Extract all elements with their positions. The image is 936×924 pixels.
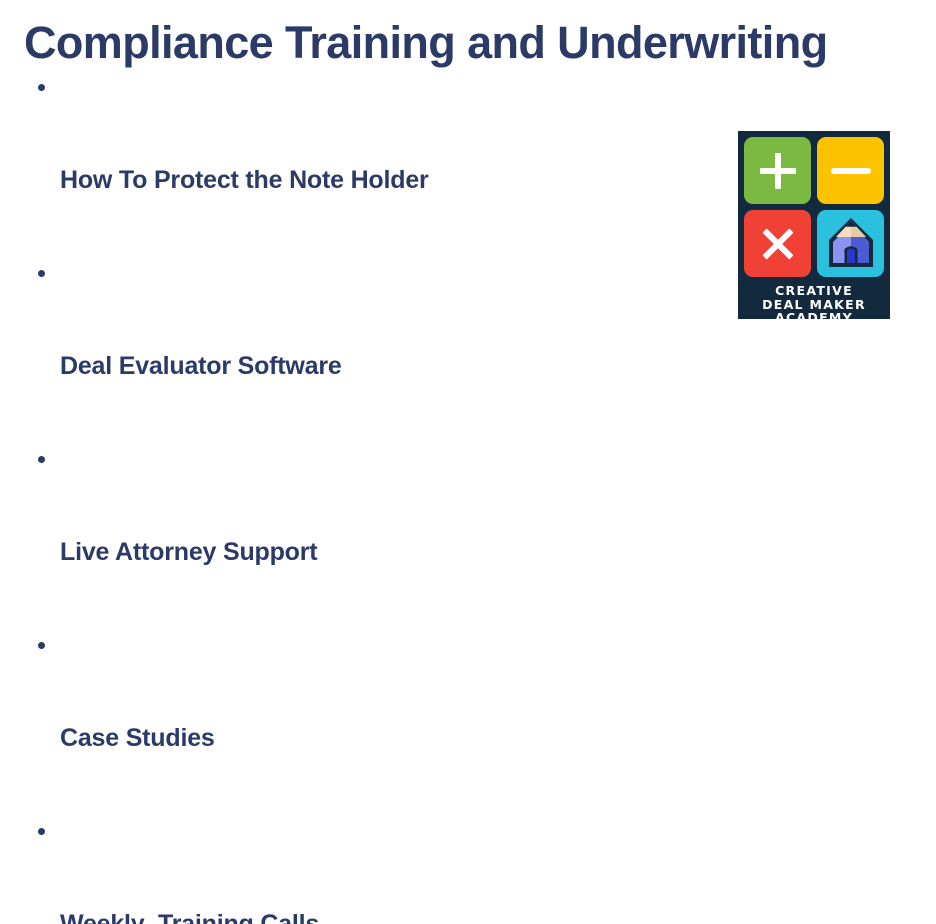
bullet-dot-icon xyxy=(38,642,45,649)
bullet-dot-icon xyxy=(38,84,45,91)
list-item-label: Deal Evaluator Software xyxy=(60,351,724,382)
list-item: Weekly Training Calls xyxy=(34,816,724,924)
times-icon xyxy=(759,225,797,263)
slide-canvas: Compliance Training and Underwriting How… xyxy=(0,0,936,462)
list-item: Case Studies xyxy=(34,630,724,816)
logo-wordmark: CREATIVE DEAL MAKER ACADEMY xyxy=(744,284,884,325)
page-title: Compliance Training and Underwriting xyxy=(24,17,924,69)
pencil-house-icon xyxy=(826,217,876,271)
list-item-label: Case Studies xyxy=(60,723,724,754)
creative-deal-maker-academy-logo: CREATIVE DEAL MAKER ACADEMY xyxy=(738,131,890,319)
list-item: Deal Evaluator Software xyxy=(34,258,724,444)
list-item: How To Protect the Note Holder xyxy=(34,72,724,258)
logo-wordmark-line-2: DEAL MAKER xyxy=(744,298,884,312)
list-item-label: How To Protect the Note Holder xyxy=(60,165,724,196)
logo-tile-times xyxy=(744,210,811,277)
feature-bullet-list: How To Protect the Note Holder Deal Eval… xyxy=(34,72,724,924)
logo-tile-plus xyxy=(744,137,811,204)
logo-wordmark-line-1: CREATIVE xyxy=(744,284,884,298)
plus-icon xyxy=(775,153,781,189)
logo-tile-pencil-house xyxy=(817,210,884,277)
minus-icon xyxy=(831,168,871,174)
bullet-dot-icon xyxy=(38,828,45,835)
logo-tile-minus xyxy=(817,137,884,204)
list-item-label: Weekly Training Calls xyxy=(60,909,724,924)
list-item-label: Live Attorney Support xyxy=(60,537,724,568)
logo-tile-grid xyxy=(744,137,884,277)
logo-wordmark-line-3: ACADEMY xyxy=(744,311,884,325)
list-item: Live Attorney Support xyxy=(34,444,724,630)
bullet-dot-icon xyxy=(38,270,45,277)
